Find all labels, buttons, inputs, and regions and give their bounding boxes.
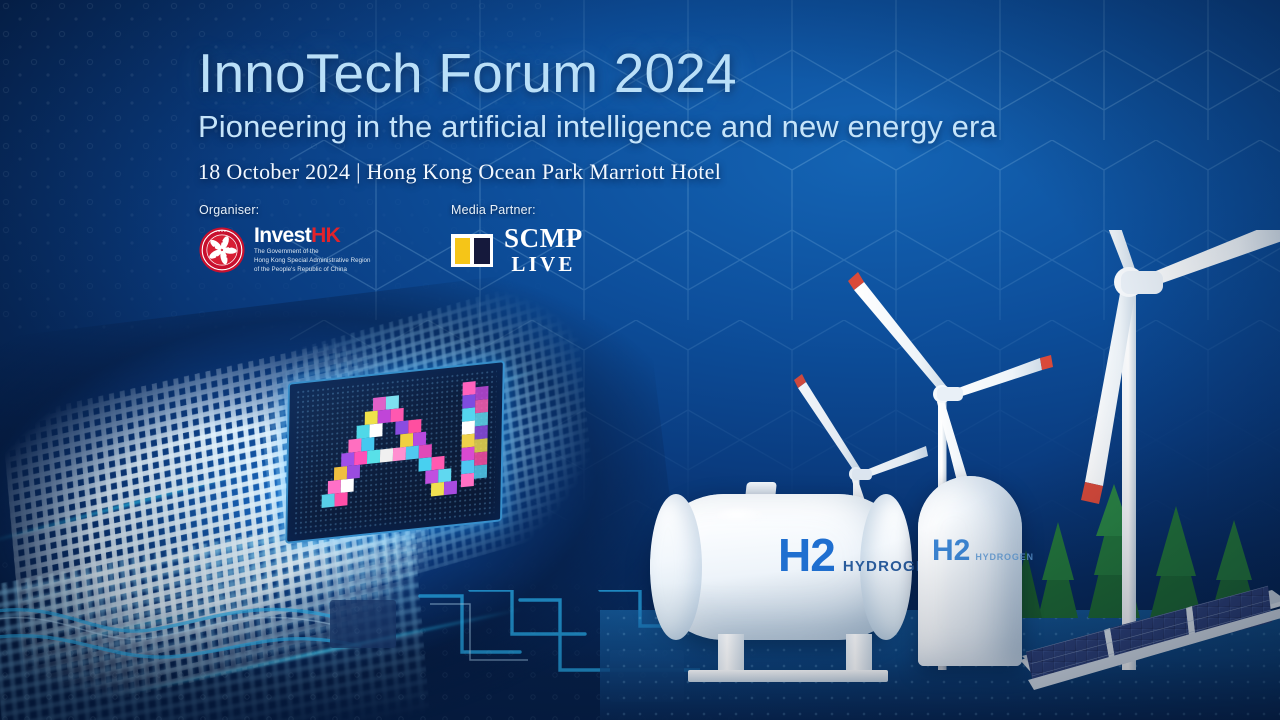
investhk-logo[interactable]: ★ ★ ★ ★ ★ InvestHK The Government of the… <box>199 225 451 274</box>
gov-line-1: The Government of the <box>254 248 370 257</box>
headline-block: InnoTech Forum 2024 Pioneering in the ar… <box>198 44 1118 185</box>
scmp-wordmark: SCMP LIVE <box>504 225 583 277</box>
scmp-mark-icon <box>451 234 493 267</box>
media-partner-label: Media Partner: <box>451 203 751 217</box>
scmp-logo[interactable]: SCMP LIVE <box>451 225 751 277</box>
page-subtitle: Pioneering in the artificial intelligenc… <box>198 108 1118 145</box>
scmp-name: SCMP <box>504 225 583 252</box>
hk-word: HK <box>311 224 340 247</box>
invest-word: Invest <box>254 224 311 247</box>
investhk-wordmark: InvestHK The Government of the Hong Kong… <box>254 225 370 274</box>
gov-line-3: of the People's Republic of China <box>254 266 370 275</box>
svg-text:★ ★ ★ ★ ★: ★ ★ ★ ★ ★ <box>215 230 229 233</box>
media-partner-column: Media Partner: SCMP LIVE <box>451 203 751 277</box>
partners-row: Organiser: <box>199 203 819 277</box>
organiser-label: Organiser: <box>199 203 451 217</box>
hong-kong-emblem-icon: ★ ★ ★ ★ ★ <box>199 227 245 273</box>
page-title: InnoTech Forum 2024 <box>198 44 1118 102</box>
poster-canvas: H2 HYDROGEN H2 HYDROGEN InnoTech Forum 2… <box>0 0 1280 720</box>
organiser-column: Organiser: <box>199 203 451 277</box>
event-dateline: 18 October 2024 | Hong Kong Ocean Park M… <box>198 159 1118 185</box>
gov-line-2: Hong Kong Special Administrative Region <box>254 257 370 266</box>
scmp-tagline: LIVE <box>504 252 583 277</box>
